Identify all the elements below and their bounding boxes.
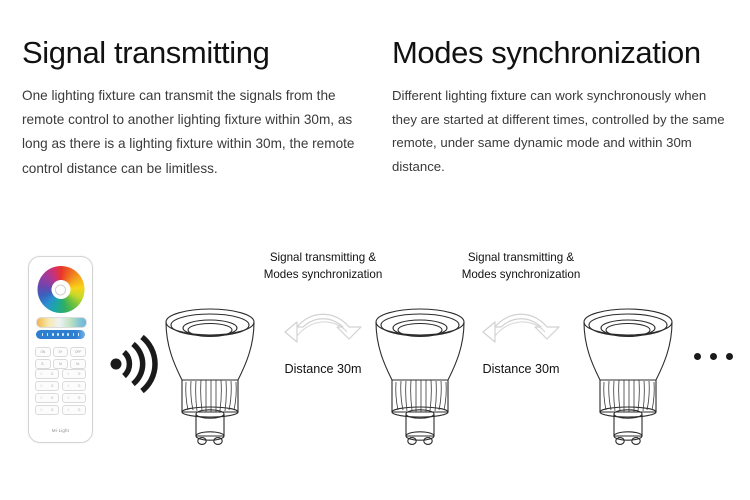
zone-on-label: I: [41, 384, 42, 388]
ellipsis-dot: [726, 353, 733, 360]
zone-on-label: I: [68, 408, 69, 412]
section-body-signal-transmitting: One lighting fixture can transmit the si…: [22, 84, 362, 181]
link-title-1-line2: Modes synchronization: [248, 267, 398, 284]
remote-zone-key: IO: [35, 381, 59, 391]
link-title-2-line2: Modes synchronization: [446, 267, 596, 284]
remote-zone-key: IO: [62, 393, 86, 403]
infographic-page: Signal transmitting One lighting fixture…: [0, 0, 750, 500]
zone-off-label: O: [78, 372, 80, 376]
ellipsis-dot: [694, 353, 701, 360]
section-signal-transmitting: Signal transmitting One lighting fixture…: [22, 36, 362, 181]
zone-on-label: I: [68, 396, 69, 400]
link-title-2-line1: Signal transmitting &: [446, 250, 596, 267]
remote-zone-keys: IO IO IO IO IO IO IO IO: [35, 369, 86, 415]
zone-off-label: O: [51, 396, 53, 400]
link-title-1-line1: Signal transmitting &: [248, 250, 398, 267]
zone-off-label: O: [78, 384, 80, 388]
remote-key-off: OFF: [70, 347, 86, 357]
remote-key-sp: S+: [53, 347, 69, 357]
zone-off-label: O: [51, 372, 53, 376]
remote-zone-key: IO: [35, 393, 59, 403]
rgb-remote-control: ON S+ OFF S- M M- IO IO IO IO IO IO IO I…: [28, 256, 93, 443]
zone-off-label: O: [51, 384, 53, 388]
color-wheel-icon: [37, 266, 84, 313]
remote-zone-key: IO: [62, 369, 86, 379]
brightness-slider: [36, 330, 85, 339]
remote-key-mode-minus: M-: [70, 359, 86, 369]
brand-logo: Mi·Light: [29, 428, 92, 433]
remote-key-sm: S-: [35, 359, 51, 369]
remote-zone-key: IO: [62, 381, 86, 391]
zone-on-label: I: [68, 372, 69, 376]
page-title-signal-transmitting: Signal transmitting: [22, 36, 362, 70]
remote-key-on: ON: [35, 347, 51, 357]
color-temperature-slider: [36, 317, 87, 328]
wifi-signal-waves-icon: [107, 335, 162, 393]
ellipsis-dot: [710, 353, 717, 360]
remote-key-mode: M: [53, 359, 69, 369]
page-title-modes-synchronization: Modes synchronization: [392, 36, 732, 70]
zone-off-label: O: [78, 408, 80, 412]
gu10-led-spotlight-3: [578, 302, 678, 447]
system-diagram: ON S+ OFF S- M M- IO IO IO IO IO IO IO I…: [0, 240, 750, 470]
zone-on-label: I: [68, 384, 69, 388]
section-body-modes-synchronization: Different lighting fixture can work sync…: [392, 84, 732, 178]
section-modes-synchronization: Modes synchronization Different lighting…: [392, 36, 732, 178]
connection-link-2: Signal transmitting & Modes synchronizat…: [446, 250, 596, 376]
remote-zone-key: IO: [62, 405, 86, 415]
continuation-ellipsis: [694, 353, 733, 360]
gu10-led-spotlight-1: [160, 302, 260, 447]
zone-on-label: I: [41, 372, 42, 376]
remote-zone-key: IO: [35, 405, 59, 415]
color-wheel-hub: [55, 284, 66, 295]
zone-on-label: I: [41, 396, 42, 400]
remote-top-keys: ON S+ OFF S- M M-: [35, 347, 86, 369]
remote-zone-key: IO: [35, 369, 59, 379]
link-distance-2: Distance 30m: [446, 362, 596, 376]
bidirectional-curved-arrow-2: [446, 306, 596, 352]
zone-on-label: I: [41, 408, 42, 412]
zone-off-label: O: [78, 396, 80, 400]
zone-off-label: O: [51, 408, 53, 412]
